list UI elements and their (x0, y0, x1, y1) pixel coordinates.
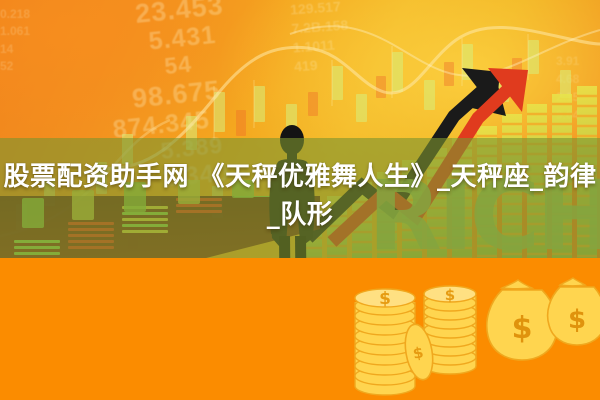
background-glow (0, 0, 600, 400)
banner-image: 23.453 5.431 54 98.675 874.345 5.389 2.3… (0, 0, 600, 400)
